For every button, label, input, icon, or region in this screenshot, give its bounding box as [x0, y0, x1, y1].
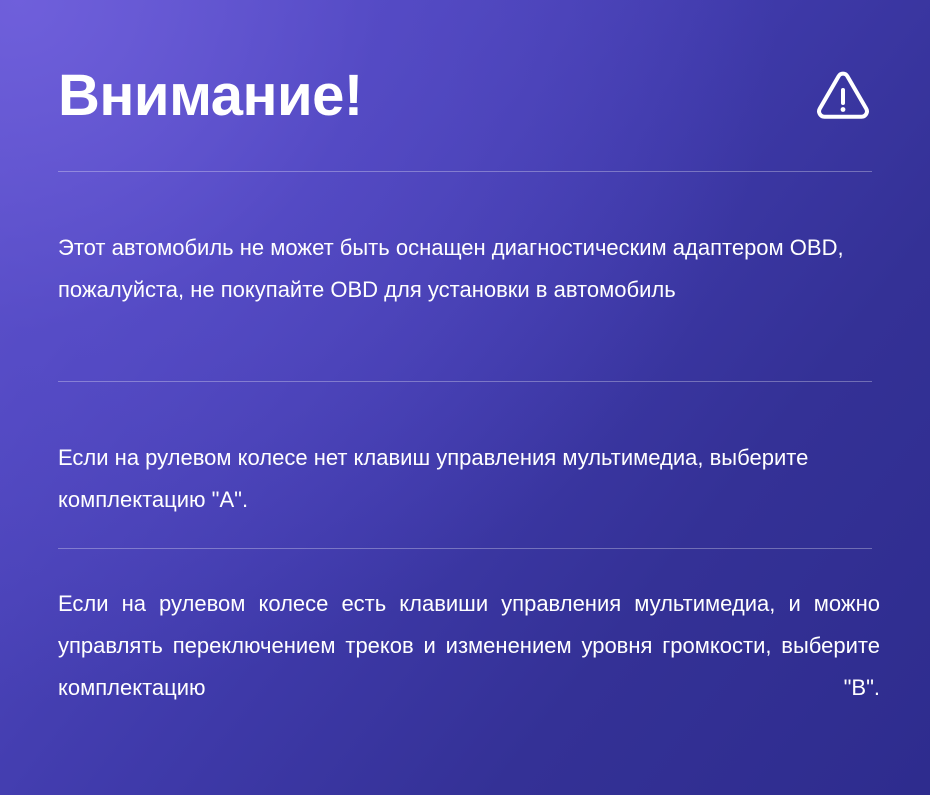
- notice-text-variant-b: Если на рулевом колесе есть клавиши упра…: [58, 583, 880, 751]
- warning-notice-panel: Внимание! Этот автомобиль не может быть …: [0, 0, 930, 795]
- notice-text-obd-warning: Этот автомобиль не может быть оснащен ди…: [58, 227, 880, 311]
- page-title: Внимание!: [58, 67, 363, 125]
- divider-2: [58, 381, 872, 382]
- divider-1: [58, 171, 872, 172]
- notice-text-variant-a: Если на рулевом колесе нет клавиш управл…: [58, 437, 880, 521]
- divider-3: [58, 548, 872, 549]
- warning-triangle-icon: [814, 67, 872, 125]
- notice-header: Внимание!: [58, 48, 872, 144]
